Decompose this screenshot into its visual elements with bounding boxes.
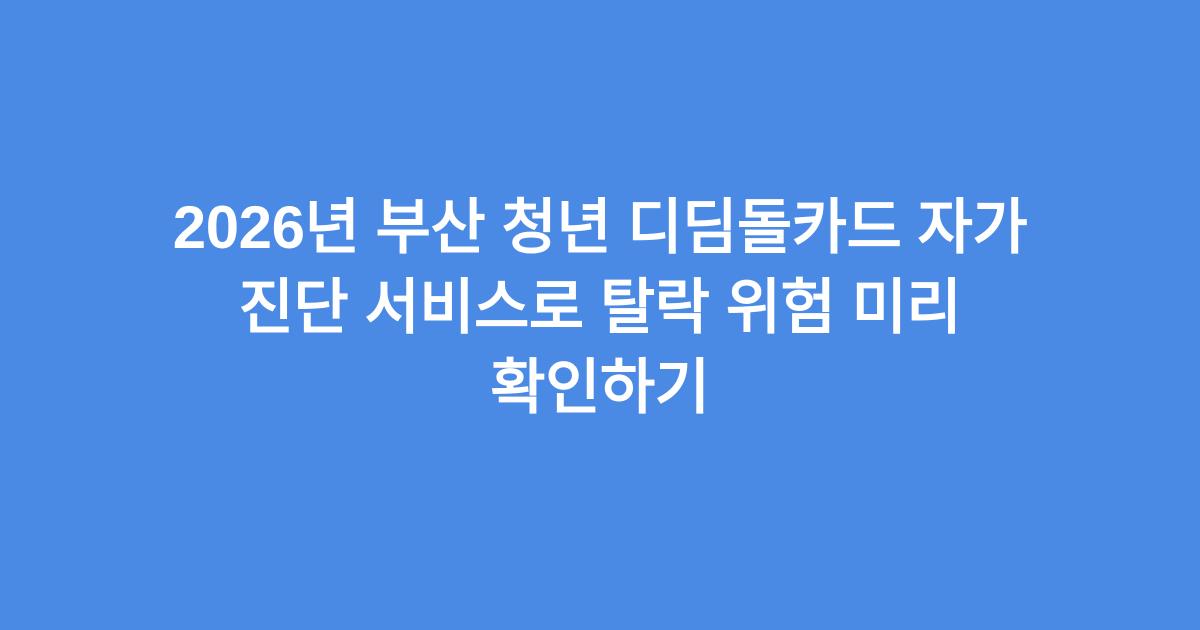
title-block: 2026년 부산 청년 디딤돌카드 자가 진단 서비스로 탈락 위험 미리 확인… xyxy=(110,188,1090,428)
page-title: 2026년 부산 청년 디딤돌카드 자가 진단 서비스로 탈락 위험 미리 확인… xyxy=(130,188,1070,428)
thumbnail-card: 2026년 부산 청년 디딤돌카드 자가 진단 서비스로 탈락 위험 미리 확인… xyxy=(0,0,1200,630)
